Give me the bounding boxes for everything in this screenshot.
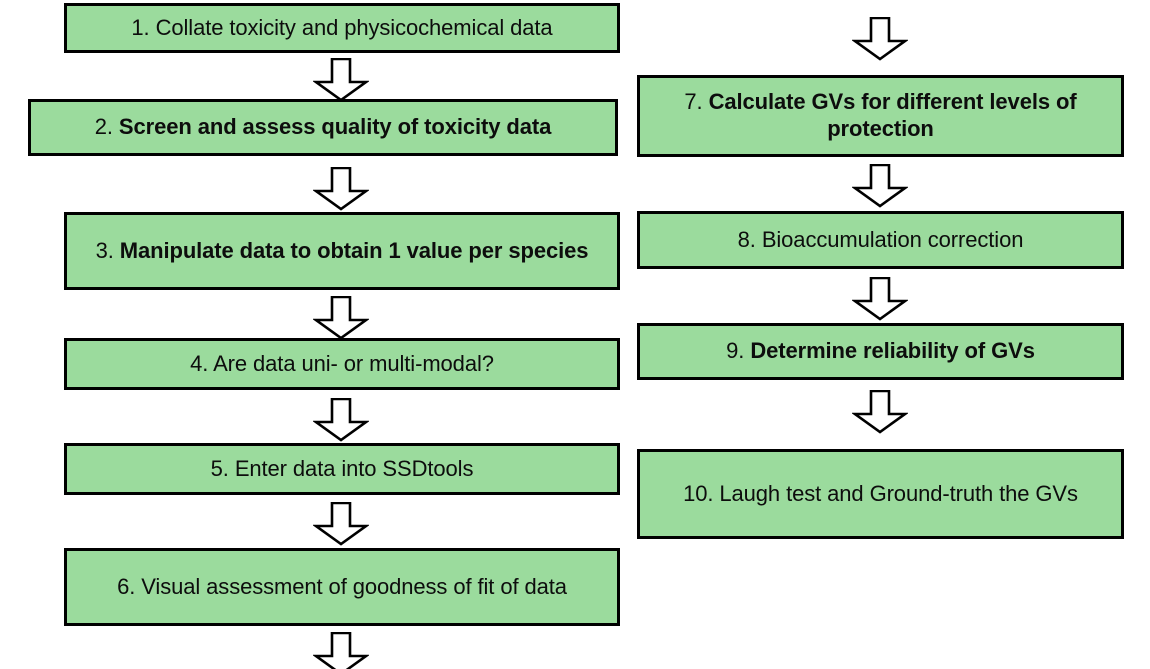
process-node-5[interactable]: 5. Enter data into SSDtools	[64, 443, 620, 495]
process-node-2-text: Screen and assess quality of toxicity da…	[119, 114, 551, 139]
process-node-3-text: Manipulate data to obtain 1 value per sp…	[120, 238, 589, 263]
process-node-3-number: 3.	[96, 238, 114, 263]
process-node-6[interactable]: 6. Visual assessment of goodness of fit …	[64, 548, 620, 626]
process-node-1-text: Collate toxicity and physicochemical dat…	[156, 15, 553, 40]
process-node-4-label: 4. Are data uni- or multi-modal?	[77, 351, 607, 378]
process-node-1-number: 1.	[131, 15, 149, 40]
flowchart-canvas: 1. Collate toxicity and physicochemical …	[0, 0, 1150, 669]
process-node-4-number: 4.	[190, 351, 208, 376]
arrow-3-to-4	[313, 296, 369, 340]
arrow-2-to-3	[313, 167, 369, 211]
process-node-9[interactable]: 9. Determine reliability of GVs	[637, 323, 1124, 380]
process-node-6-number: 6.	[117, 574, 135, 599]
process-node-8[interactable]: 8. Bioaccumulation correction	[637, 211, 1124, 269]
process-node-5-number: 5.	[211, 456, 229, 481]
process-node-7-number: 7.	[684, 89, 702, 114]
process-node-1-label: 1. Collate toxicity and physicochemical …	[77, 15, 607, 42]
process-node-7-text: Calculate GVs for different levels of pr…	[709, 89, 1077, 141]
process-node-4-text: Are data uni- or multi-modal?	[213, 351, 494, 376]
process-node-7-label: 7. Calculate GVs for different levels of…	[650, 89, 1111, 143]
process-node-4[interactable]: 4. Are data uni- or multi-modal?	[64, 338, 620, 390]
process-node-3[interactable]: 3. Manipulate data to obtain 1 value per…	[64, 212, 620, 290]
process-node-10-text: Laugh test and Ground-truth the GVs	[719, 481, 1078, 506]
process-node-1[interactable]: 1. Collate toxicity and physicochemical …	[64, 3, 620, 53]
process-node-6-text: Visual assessment of goodness of fit of …	[141, 574, 567, 599]
process-node-2[interactable]: 2. Screen and assess quality of toxicity…	[28, 99, 618, 156]
arrow-1-to-2	[313, 58, 369, 102]
process-node-3-label: 3. Manipulate data to obtain 1 value per…	[77, 238, 607, 265]
arrow-5-to-6	[313, 502, 369, 546]
process-node-5-text: Enter data into SSDtools	[235, 456, 474, 481]
process-node-2-number: 2.	[95, 114, 113, 139]
process-node-10-number: 10.	[683, 481, 713, 506]
arrow-4-to-5	[313, 398, 369, 442]
process-node-8-label: 8. Bioaccumulation correction	[650, 227, 1111, 254]
process-node-5-label: 5. Enter data into SSDtools	[77, 456, 607, 483]
arrow-7-to-8	[852, 164, 908, 208]
process-node-6-label: 6. Visual assessment of goodness of fit …	[77, 574, 607, 601]
process-node-8-text: Bioaccumulation correction	[762, 227, 1024, 252]
arrow-8-to-9	[852, 277, 908, 321]
process-node-9-text: Determine reliability of GVs	[750, 338, 1035, 363]
process-node-9-label: 9. Determine reliability of GVs	[650, 338, 1111, 365]
arrow-into-7	[852, 17, 908, 61]
process-node-10[interactable]: 10. Laugh test and Ground-truth the GVs	[637, 449, 1124, 539]
process-node-8-number: 8.	[738, 227, 756, 252]
arrow-9-to-10	[852, 390, 908, 434]
process-node-2-label: 2. Screen and assess quality of toxicity…	[41, 114, 605, 141]
arrow-6-to-7	[313, 632, 369, 669]
process-node-7[interactable]: 7. Calculate GVs for different levels of…	[637, 75, 1124, 157]
process-node-9-number: 9.	[726, 338, 744, 363]
process-node-10-label: 10. Laugh test and Ground-truth the GVs	[650, 481, 1111, 508]
